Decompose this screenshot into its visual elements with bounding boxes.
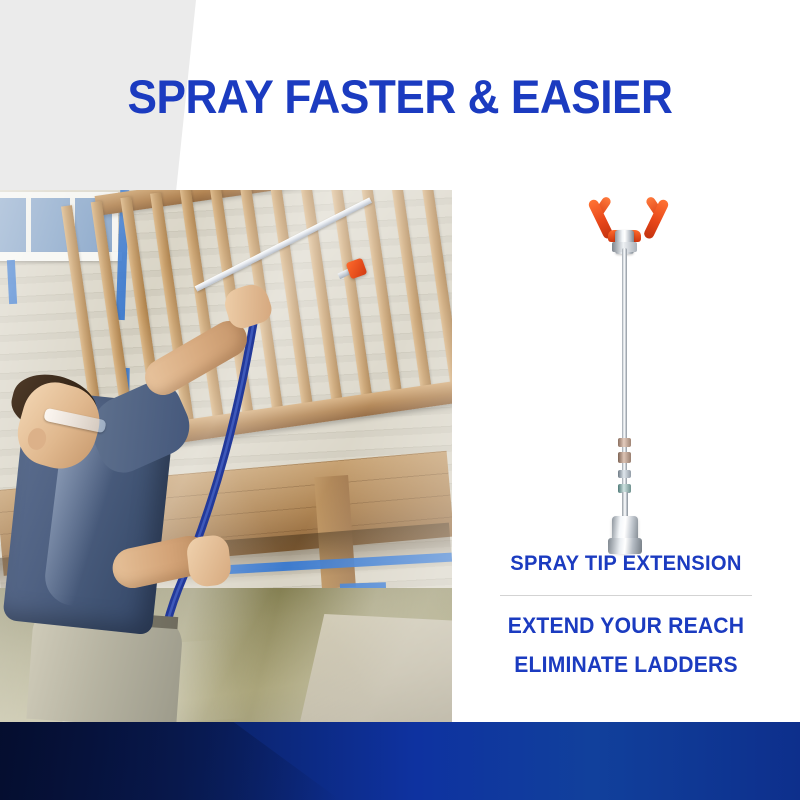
benefit-line-1: EXTEND YOUR REACH: [459, 613, 793, 639]
painter-lower-hand: [186, 534, 233, 588]
product-image: [452, 190, 800, 570]
shaft-collar: [618, 438, 631, 447]
photo-inner: [0, 190, 452, 722]
divider: [500, 595, 752, 596]
shaft-collar: [618, 452, 631, 463]
marketing-poster: SPRAY FASTER & EASIER: [0, 0, 800, 800]
benefit-line-2: ELIMINATE LADDERS: [459, 652, 793, 678]
product-text-block: SPRAY TIP EXTENSION EXTEND YOUR REACH EL…: [452, 552, 800, 691]
product-name: SPRAY TIP EXTENSION: [459, 552, 793, 576]
lifestyle-photo: [0, 190, 452, 722]
page-title: SPRAY FASTER & EASIER: [24, 72, 776, 121]
bottom-blue-band: [0, 722, 800, 800]
shaft-collar: [618, 470, 631, 478]
